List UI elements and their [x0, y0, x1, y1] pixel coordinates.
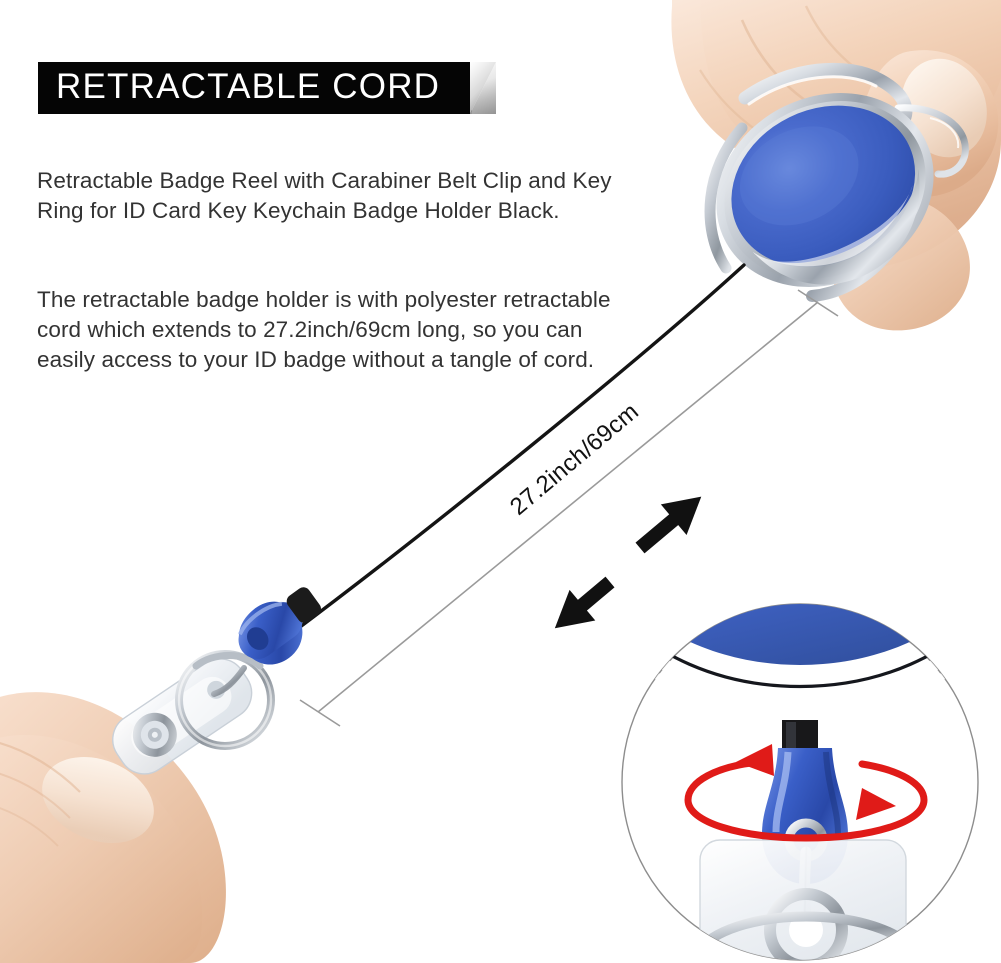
product-description-paragraph-2: The retractable badge holder is with pol…	[37, 285, 637, 375]
page-title: RETRACTABLE CORD	[56, 67, 440, 107]
product-illustration	[0, 0, 1001, 963]
product-description-paragraph-1: Retractable Badge Reel with Carabiner Be…	[37, 166, 637, 226]
blue-swivel-connector	[226, 576, 334, 677]
title-banner: RETRACTABLE CORD	[38, 62, 472, 114]
double-headed-arrow	[542, 481, 714, 643]
product-infographic: RETRACTABLE CORD Retractable Badge Reel …	[0, 0, 1001, 963]
rotation-detail-inset	[596, 480, 1001, 963]
